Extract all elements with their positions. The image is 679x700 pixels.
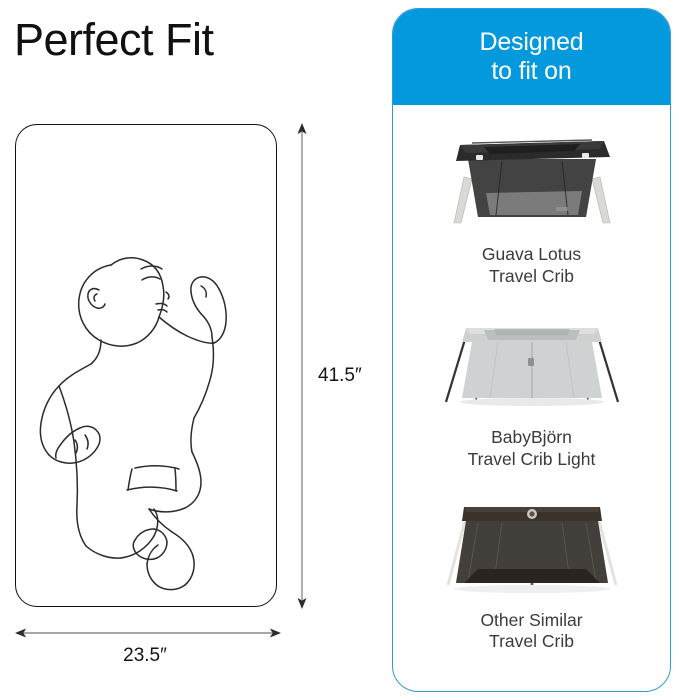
guava-lotus-travel-crib-image [432, 119, 632, 237]
list-item: Other Similar Travel Crib [393, 471, 670, 654]
designed-to-fit-on-header: Designed to fit on [393, 9, 670, 105]
designed-header-line-2: to fit on [479, 57, 583, 87]
designed-header-line-1: Designed [479, 28, 583, 58]
list-item-label: Other Similar Travel Crib [393, 610, 670, 654]
compatible-crib-list: Guava Lotus Travel Crib [393, 105, 670, 653]
list-item-label: Guava Lotus Travel Crib [393, 244, 670, 288]
other-similar-travel-crib-image [432, 485, 632, 603]
sleeping-baby-illustration [15, 124, 277, 607]
designed-to-fit-on-panel: Designed to fit on [392, 8, 671, 692]
babybjorn-travel-crib-light-image [432, 302, 632, 420]
list-item: BabyBjörn Travel Crib Light [393, 288, 670, 471]
perfect-fit-diagram-section: Perfect Fit [0, 0, 380, 700]
height-dimension-arrow [290, 120, 314, 612]
page-title: Perfect Fit [14, 14, 214, 66]
width-dimension-label: 23.5″ [0, 645, 290, 667]
width-dimension-arrow [12, 622, 284, 644]
height-dimension-label: 41.5″ [318, 365, 362, 387]
list-item: Guava Lotus Travel Crib [393, 105, 670, 288]
list-item-label: BabyBjörn Travel Crib Light [393, 427, 670, 471]
